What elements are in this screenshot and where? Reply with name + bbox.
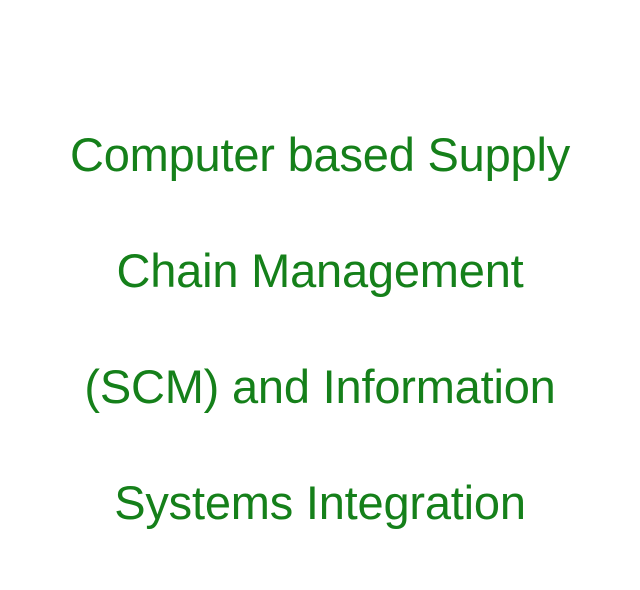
slide-title-block: Computer based Supply Chain Management (… <box>0 0 640 590</box>
page-title: Computer based Supply Chain Management (… <box>0 68 640 590</box>
title-line-4: Systems Integration <box>0 474 640 532</box>
title-line-3: (SCM) and Information <box>0 358 640 416</box>
presentation-slide: Computer based Supply Chain Management (… <box>0 0 640 480</box>
title-line-2: Chain Management <box>0 242 640 300</box>
title-line-1: Computer based Supply <box>0 126 640 184</box>
